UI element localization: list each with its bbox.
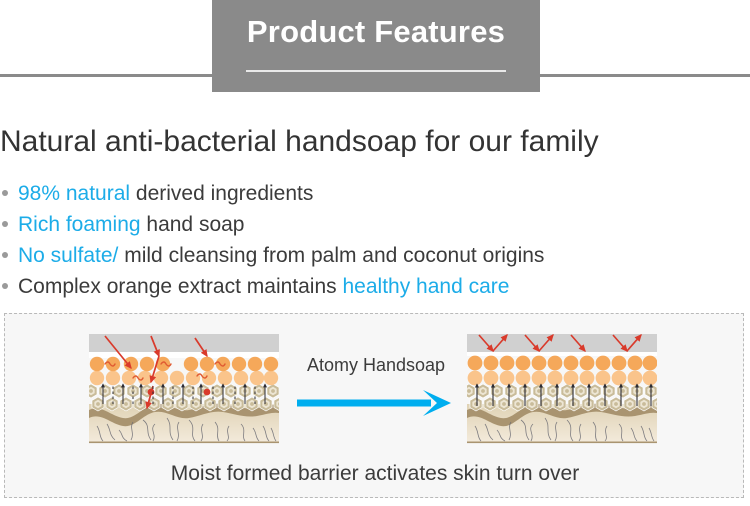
corneocyte-layer (90, 357, 278, 385)
bullet-dot-icon (2, 190, 8, 196)
feature-highlight: No sulfate/ (18, 244, 118, 267)
environment-band (89, 334, 279, 352)
epidermal-cells (89, 384, 279, 411)
list-item: Complex orange extract maintains healthy… (0, 271, 750, 302)
page-header: Product Features (0, 0, 750, 100)
feature-text: mild cleansing from palm and coconut ori… (118, 244, 544, 267)
diagram-comparison-row: Atomy Handsoap (5, 334, 745, 444)
diagram-panel: Atomy Handsoap (4, 313, 744, 498)
feature-text: derived ingredients (130, 182, 313, 205)
feature-text: Complex orange extract maintains (18, 275, 343, 298)
feature-highlight: Rich foaming (18, 213, 141, 236)
list-item: No sulfate/ mild cleansing from palm and… (0, 240, 750, 271)
bullet-dot-icon (2, 252, 8, 258)
arrow-right-icon (291, 388, 461, 418)
title-banner: Product Features (212, 0, 540, 92)
feature-list: 98% natural derived ingredients Rich foa… (0, 178, 750, 302)
skin-before-diagram (89, 334, 279, 444)
epidermal-cells (467, 384, 657, 411)
list-item: Rich foaming hand soap (0, 209, 750, 240)
bullet-dot-icon (2, 283, 8, 289)
transition-block: Atomy Handsoap (281, 356, 471, 446)
bullet-dot-icon (2, 221, 8, 227)
feature-highlight: healthy hand care (343, 275, 510, 298)
feature-highlight: 98% natural (18, 182, 130, 205)
title-underline (246, 70, 506, 72)
feature-text: hand soap (141, 213, 245, 236)
diagram-caption: Moist formed barrier activates skin turn… (5, 462, 745, 486)
main-heading: Natural anti-bacterial handsoap for our … (0, 125, 750, 158)
transition-label: Atomy Handsoap (281, 356, 471, 374)
page-title: Product Features (247, 16, 505, 49)
corneocyte-layer (468, 356, 657, 386)
skin-after-diagram (467, 334, 657, 444)
list-item: 98% natural derived ingredients (0, 178, 750, 209)
